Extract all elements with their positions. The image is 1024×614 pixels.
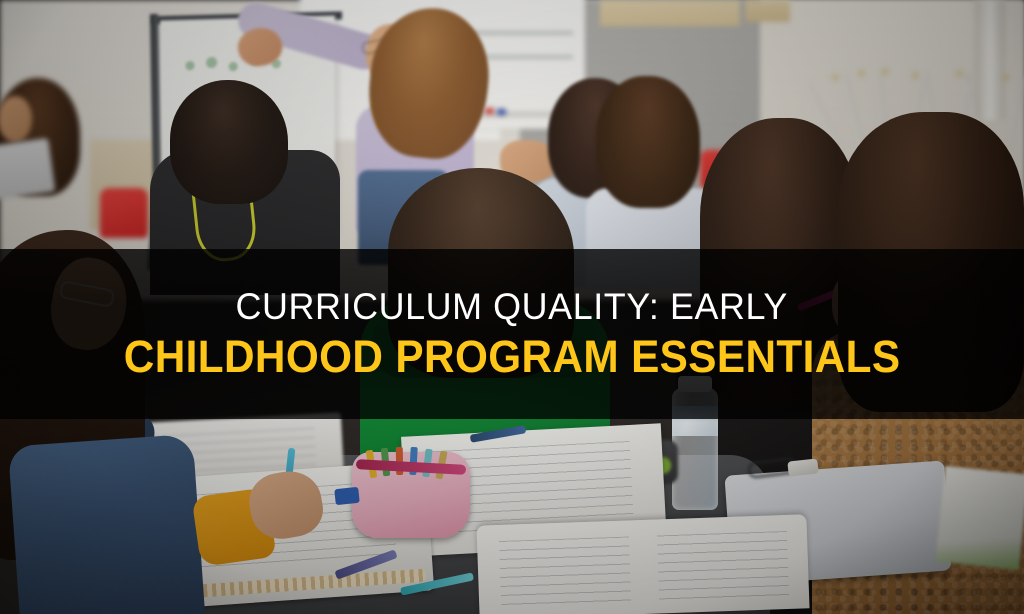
textbook-lines	[657, 531, 789, 601]
title-line-1: CURRICULUM QUALITY: EARLY	[236, 287, 788, 327]
chair-leg-tip	[912, 72, 919, 79]
chair-leg	[843, 74, 864, 151]
eraser	[787, 458, 818, 476]
chair-leg-tip	[832, 74, 839, 81]
open-textbook-right	[476, 514, 809, 614]
background-student-right-hair	[596, 76, 700, 208]
chair-leg-tip	[882, 68, 889, 75]
title-line-2: CHILDHOOD PROGRAM ESSENTIALS	[124, 333, 901, 381]
blue-eraser	[334, 487, 360, 505]
wood-cabinet	[600, 0, 740, 26]
wood-cabinet-secondary	[745, 0, 790, 22]
image-canvas: CURRICULUM QUALITY: EARLY CHILDHOOD PROG…	[0, 0, 1024, 614]
student-black-hoodie-head	[170, 80, 288, 204]
background-student-left-face	[0, 96, 32, 142]
chair-leg-tip	[858, 70, 865, 77]
student-denim-jacket-sleeve	[8, 434, 205, 614]
chair-leg-tip	[1002, 74, 1009, 81]
chair-leg	[1006, 77, 1024, 150]
closed-book-right	[935, 466, 1024, 570]
tablet-device	[0, 138, 55, 200]
chair-leg-tip	[956, 70, 963, 77]
textbook-lines	[499, 536, 631, 606]
title-block: CURRICULUM QUALITY: EARLY CHILDHOOD PROG…	[0, 249, 1024, 419]
red-chair	[100, 188, 148, 238]
whiteboard-marker	[497, 109, 506, 115]
whiteboard-marker	[485, 108, 494, 114]
